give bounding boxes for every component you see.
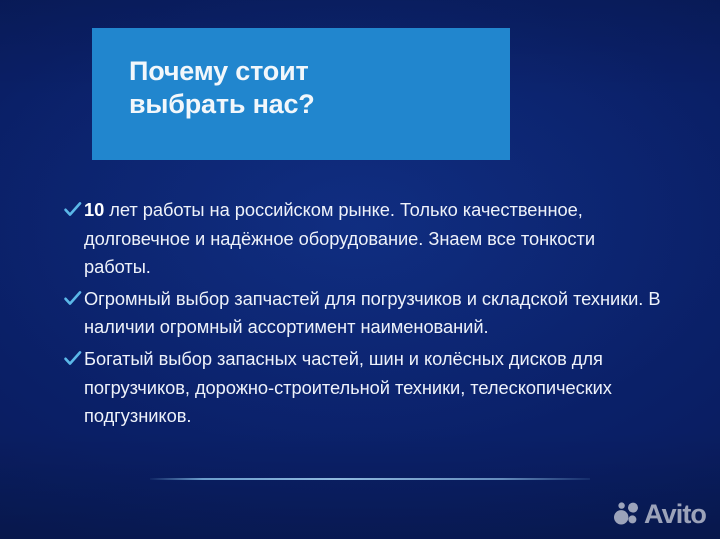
- list-item-lead: 10: [84, 199, 104, 220]
- check-icon: [62, 346, 84, 372]
- list-item-text: 10 лет работы на российском рынке. Тольк…: [84, 196, 664, 282]
- benefits-list: 10 лет работы на российском рынке. Тольк…: [62, 196, 682, 434]
- list-item-body: Богатый выбор запасных частей, шин и кол…: [84, 348, 612, 426]
- check-icon: [62, 197, 84, 223]
- list-item: Огромный выбор запчастей для погрузчиков…: [62, 285, 682, 342]
- avito-dots-icon: [613, 502, 639, 526]
- list-item-text: Богатый выбор запасных частей, шин и кол…: [84, 345, 664, 431]
- slide-canvas: Почему стоит выбрать нас? 10 лет работы …: [0, 0, 720, 539]
- check-icon: [62, 286, 84, 312]
- divider: [150, 478, 590, 480]
- list-item-text: Огромный выбор запчастей для погрузчиков…: [84, 285, 664, 342]
- list-item-body: Огромный выбор запчастей для погрузчиков…: [84, 288, 661, 338]
- list-item: Богатый выбор запасных частей, шин и кол…: [62, 345, 682, 431]
- avito-watermark: Avito: [613, 501, 706, 527]
- list-item: 10 лет работы на российском рынке. Тольк…: [62, 196, 682, 282]
- title-card: Почему стоит выбрать нас?: [92, 28, 510, 160]
- avito-wordmark: Avito: [644, 501, 706, 527]
- page-title: Почему стоит выбрать нас?: [129, 55, 496, 121]
- list-item-body: лет работы на российском рынке. Только к…: [84, 199, 595, 277]
